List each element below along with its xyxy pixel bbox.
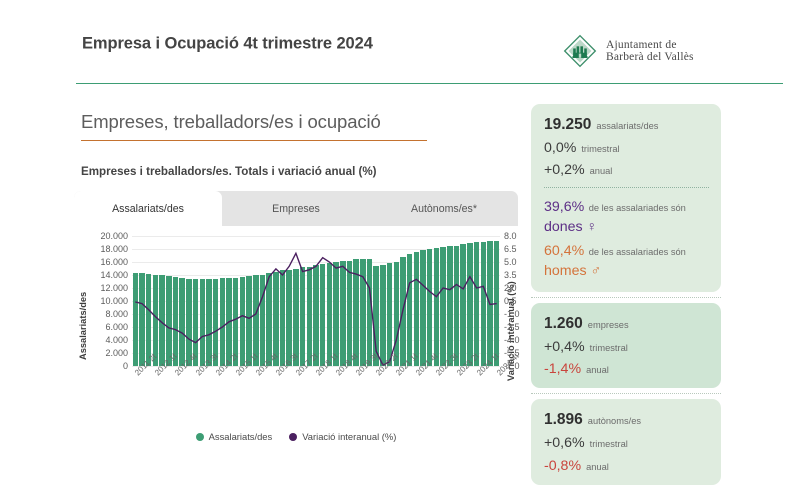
ajuntament-logo: Ajuntament de Barberà del Vallès <box>563 33 785 69</box>
legend-item-bars: Assalariats/des <box>196 431 273 442</box>
y-axis-tick: 16.000 <box>84 258 128 267</box>
assalariats-quarterly-value: 0,0% <box>544 140 576 156</box>
assalariats-annual-value: +0,2% <box>544 162 585 178</box>
female-caption: de les assalariades són <box>589 203 686 213</box>
y2-axis-tick: 6.5 <box>504 245 530 254</box>
cards-divider-1 <box>531 297 721 298</box>
y2-axis-tick: 3.5 <box>504 271 530 280</box>
autonoms-total-row: 1.896 autònoms/es <box>544 411 709 429</box>
autonoms-quarterly-value: +0,6% <box>544 435 585 451</box>
assalariats-annual-row: +0,2% anual <box>544 162 709 178</box>
female-share-row: 39,6% de les assalariades són dones ♀ <box>544 197 709 237</box>
y-axis-tick: 12.000 <box>84 284 128 293</box>
tab-autonoms[interactable]: Autònoms/es* <box>370 191 518 226</box>
empreses-quarterly-unit: trimestral <box>590 343 628 354</box>
y-axis-tick: 14.000 <box>84 271 128 280</box>
empreses-total-unit: empreses <box>588 320 629 331</box>
dashboard-page: Empresa i Ocupació 4t trimestre 2024 <box>0 0 800 500</box>
male-word: homes <box>544 263 587 279</box>
chart-legend: Assalariats/des Variació interanual (%) <box>74 431 518 442</box>
chart-tabs: Assalariats/des Empreses Autònoms/es* <box>74 191 518 226</box>
male-gender-icon: ♂ <box>591 262 602 278</box>
empreses-total-value: 1.260 <box>544 315 583 333</box>
autonoms-quarterly-row: +0,6% trimestral <box>544 435 709 451</box>
logo-line-2: Barberà del Vallès <box>606 51 694 63</box>
empreses-annual-unit: anual <box>586 365 609 376</box>
y-axis-tick: 10.000 <box>84 297 128 306</box>
female-gender-icon: ♀ <box>587 218 598 234</box>
header-divider <box>76 83 783 84</box>
y-axis-tick: 20.000 <box>84 232 128 241</box>
assalariats-total-unit: assalariats/des <box>596 121 658 132</box>
card-dotted-divider <box>544 187 709 188</box>
y-axis-tick: 4.000 <box>84 336 128 345</box>
tab-assalariats[interactable]: Assalariats/des <box>74 191 222 226</box>
section-title: Empreses, treballadors/es i ocupació <box>81 111 381 138</box>
bars-group <box>132 236 500 366</box>
y2-axis-tick: 5.0 <box>504 258 530 267</box>
page-header: Empresa i Ocupació 4t trimestre 2024 <box>0 0 800 88</box>
y-axis-tick: 0 <box>84 362 128 371</box>
autonoms-quarterly-unit: trimestral <box>590 439 628 450</box>
logo-line-1: Ajuntament de <box>606 39 694 51</box>
autonoms-annual-row: -0,8% anual <box>544 458 709 474</box>
legend-item-line: Variació interanual (%) <box>289 431 396 442</box>
legend-swatch-purple <box>289 433 297 441</box>
castle-diamond-icon <box>563 34 597 68</box>
autonoms-card: 1.896 autònoms/es +0,6% trimestral -0,8%… <box>531 399 721 484</box>
autonoms-total-unit: autònoms/es <box>588 416 641 427</box>
empreses-annual-value: -1,4% <box>544 361 581 377</box>
assalariats-card: 19.250 assalariats/des 0,0% trimestral +… <box>531 104 721 292</box>
tab-empreses[interactable]: Empreses <box>222 191 370 226</box>
legend-label-line: Variació interanual (%) <box>302 431 396 442</box>
empreses-card: 1.260 empreses +0,4% trimestral -1,4% an… <box>531 303 721 388</box>
male-percent: 60,4% <box>544 243 584 259</box>
y-axis-tick: 18.000 <box>84 245 128 254</box>
chart-canvas: Assalariats/des Variació interanual (%) … <box>74 226 518 456</box>
male-caption: de les assalariades són <box>589 247 686 257</box>
y2-axis-tick: -1.0 <box>504 310 530 319</box>
variation-line <box>132 236 500 366</box>
y2-axis-tick: -4.0 <box>504 336 530 345</box>
y-axis-tick: 2.000 <box>84 349 128 358</box>
chart-title: Empreses i treballadors/es. Totals i var… <box>81 165 377 178</box>
assalariats-total-row: 19.250 assalariats/des <box>544 116 709 134</box>
legend-swatch-green <box>196 433 204 441</box>
autonoms-annual-unit: anual <box>586 462 609 473</box>
assalariats-quarterly-row: 0,0% trimestral <box>544 140 709 156</box>
empreses-quarterly-row: +0,4% trimestral <box>544 339 709 355</box>
cards-divider-2 <box>531 393 721 394</box>
assalariats-quarterly-unit: trimestral <box>581 144 619 155</box>
autonoms-annual-value: -0,8% <box>544 458 581 474</box>
female-label: dones ♀ <box>544 218 709 237</box>
empreses-total-row: 1.260 empreses <box>544 315 709 333</box>
assalariats-total-value: 19.250 <box>544 116 591 134</box>
y-axis-tick: 8.000 <box>84 310 128 319</box>
y2-axis-tick: 0.5 <box>504 297 530 306</box>
empreses-quarterly-value: +0,4% <box>544 339 585 355</box>
page-title: Empresa i Ocupació 4t trimestre 2024 <box>82 35 373 54</box>
assalariats-annual-unit: anual <box>590 166 613 177</box>
section-underline <box>81 140 427 141</box>
logo-wordmark: Ajuntament de Barberà del Vallès <box>606 39 694 63</box>
y2-axis-tick: -2.5 <box>504 323 530 332</box>
y2-axis-tick: 2.0 <box>504 284 530 293</box>
y-axis-tick: 6.000 <box>84 323 128 332</box>
stats-column: 19.250 assalariats/des 0,0% trimestral +… <box>531 104 721 485</box>
male-label: homes ♂ <box>544 262 709 281</box>
legend-label-bars: Assalariats/des <box>209 431 273 442</box>
chart-panel: Assalariats/des Variació interanual (%) … <box>74 226 518 456</box>
male-share-row: 60,4% de les assalariades són homes ♂ <box>544 241 709 281</box>
empreses-annual-row: -1,4% anual <box>544 361 709 377</box>
female-percent: 39,6% <box>544 199 584 215</box>
autonoms-total-value: 1.896 <box>544 411 583 429</box>
female-word: dones <box>544 219 583 235</box>
y2-axis-tick: 8.0 <box>504 232 530 241</box>
